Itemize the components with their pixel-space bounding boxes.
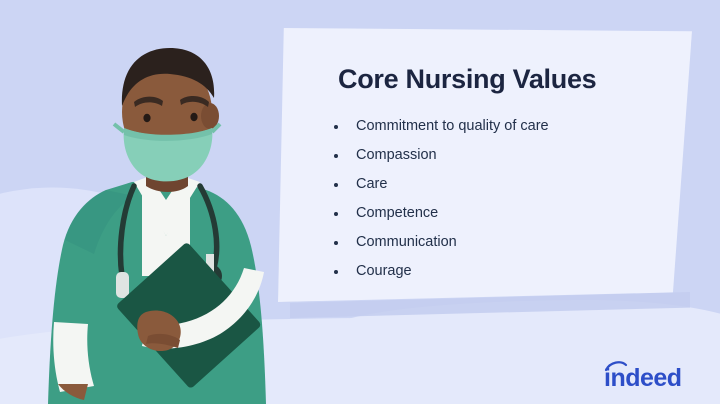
bullet-icon [334, 270, 338, 274]
list-item-label: Commitment to quality of care [356, 118, 549, 134]
bullet-icon [334, 241, 338, 245]
list-item: Courage [330, 257, 549, 286]
list-item: Competence [330, 199, 549, 228]
eye-right [190, 113, 197, 121]
bullet-icon [334, 154, 338, 158]
list-item: Compassion [330, 141, 549, 170]
list-item-label: Care [356, 176, 387, 192]
list-item-label: Courage [356, 263, 412, 279]
list-item-label: Competence [356, 205, 438, 221]
bullet-icon [334, 183, 338, 187]
list-item: Care [330, 170, 549, 199]
list-item-label: Communication [356, 234, 457, 250]
nurse-illustration [30, 40, 300, 404]
list-item-label: Compassion [356, 147, 437, 163]
bullet-icon [334, 212, 338, 216]
bullet-icon [334, 125, 338, 129]
mask-strap-left [114, 124, 124, 132]
indeed-logo: indeed [600, 358, 700, 392]
list-item: Communication [330, 228, 549, 257]
values-list: Commitment to quality of care Compassion… [330, 112, 549, 286]
slide-canvas: Core Nursing Values Commitment to qualit… [0, 0, 720, 404]
values-panel: Core Nursing Values Commitment to qualit… [278, 28, 692, 302]
list-item: Commitment to quality of care [330, 112, 549, 141]
eye-left [143, 114, 150, 122]
page-title: Core Nursing Values [338, 64, 596, 95]
stethoscope-earpiece [116, 272, 129, 298]
indeed-wordmark: indeed [604, 364, 682, 392]
